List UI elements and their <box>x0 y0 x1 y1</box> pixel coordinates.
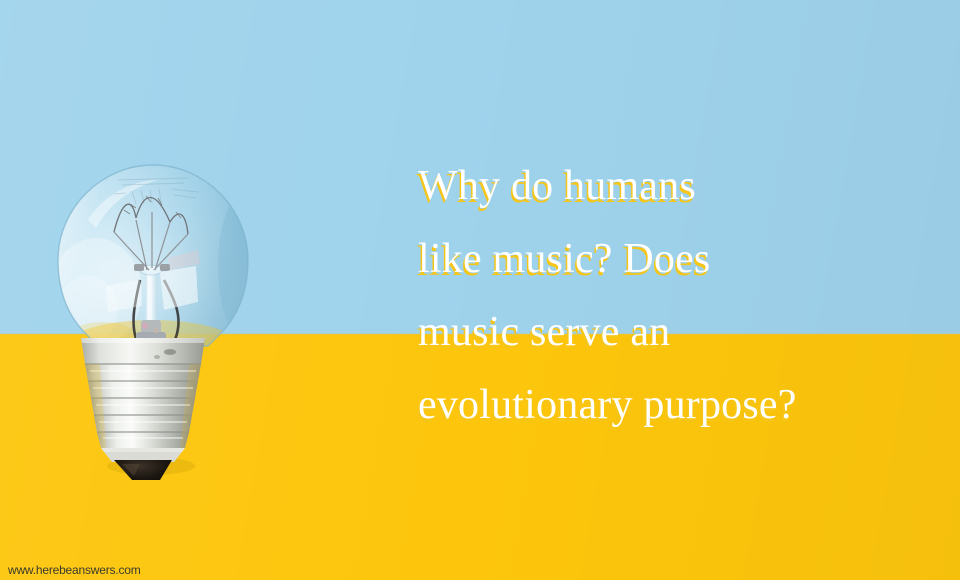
image-canvas: Why do humans like music? Does music ser… <box>0 0 960 580</box>
bulb-metal-base <box>81 338 205 462</box>
headline-line-3: music serve an <box>418 296 918 369</box>
headline-line-2: like music? Does <box>418 223 918 296</box>
headline-text: Why do humans like music? Does music ser… <box>418 150 918 442</box>
site-watermark: www.herebeanswers.com <box>8 563 141 577</box>
light-bulb-illustration <box>48 160 258 480</box>
headline-line-4: evolutionary purpose? <box>418 369 918 442</box>
headline-line-1: Why do humans <box>418 150 918 223</box>
